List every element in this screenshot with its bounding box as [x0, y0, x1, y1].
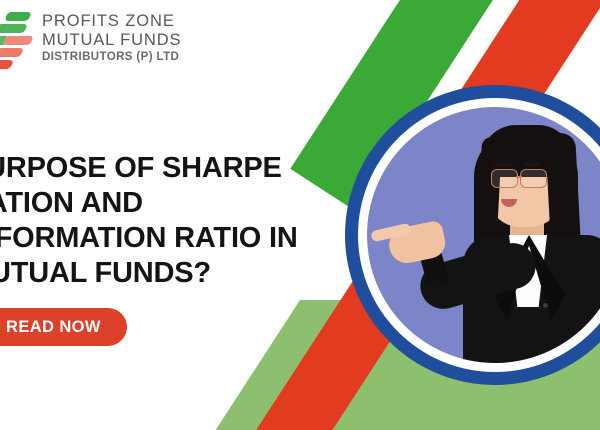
badge-inner-fill [367, 107, 600, 363]
promo-banner: PROFITS ZONE MUTUAL FUNDS DISTRIBUTORS (… [0, 0, 600, 430]
logo-text-block: PROFITS ZONE MUTUAL FUNDS DISTRIBUTORS (… [42, 10, 181, 65]
logo-bar-green-1 [4, 12, 32, 21]
logo-line-1: PROFITS ZONE [42, 12, 181, 31]
logo-bar-green-2 [0, 24, 28, 33]
logo-bar-red-3 [0, 60, 14, 69]
blazer-button [543, 303, 548, 308]
glasses-lens-left [491, 169, 518, 188]
logo-line-2: MUTUAL FUNDS [42, 31, 181, 50]
logo-line-3: DISTRIBUTORS (P) LTD [42, 50, 181, 65]
eyebrow-left [494, 163, 512, 166]
glasses-bridge [516, 176, 522, 178]
eyebrow-right [523, 163, 541, 166]
brand-logo[interactable]: PROFITS ZONE MUTUAL FUNDS DISTRIBUTORS (… [4, 10, 181, 72]
portrait-badge [345, 85, 600, 385]
logo-bar-red-1 [2, 36, 34, 45]
read-now-button[interactable]: READ NOW [0, 308, 127, 346]
logo-bar-red-2 [0, 48, 24, 57]
portrait-woman-pointing [367, 107, 600, 363]
logo-mark-icon [0, 10, 34, 72]
glasses-lens-right [520, 169, 547, 188]
headline-text: PURPOSE OF SHARPE RATION AND INFORMATION… [0, 151, 326, 291]
